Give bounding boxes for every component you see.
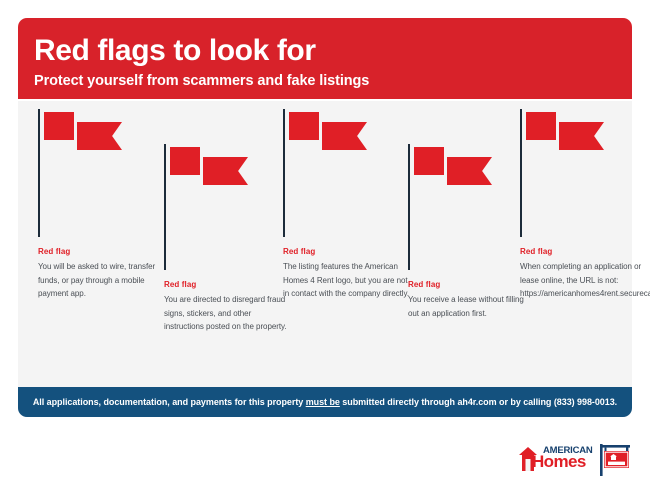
flag-square-icon xyxy=(526,112,556,140)
flag-graphic-1 xyxy=(38,109,148,237)
footer-text-before: All applications, documentation, and pay… xyxy=(33,397,306,407)
page-subtitle: Protect yourself from scammers and fake … xyxy=(34,71,632,91)
red-flag-text: When completing an application or lease … xyxy=(520,260,648,301)
infographic-poster: Red flags to look for Protect yourself f… xyxy=(0,0,650,488)
red-flag-label: Red flag xyxy=(520,247,648,256)
flag-graphic-3 xyxy=(283,109,393,237)
flag-square-icon xyxy=(289,112,319,140)
flag-caption-2: Red flag You are directed to disregard f… xyxy=(164,280,292,334)
header-banner: Red flags to look for Protect yourself f… xyxy=(18,18,632,99)
flag-item-2: Red flag You are directed to disregard f… xyxy=(164,144,292,270)
for-rent-sign-icon xyxy=(598,444,632,476)
page-title: Red flags to look for xyxy=(34,34,632,68)
flag-pole-icon xyxy=(164,144,166,270)
flag-pole-icon xyxy=(38,109,40,237)
logo-rent-sign xyxy=(598,444,632,476)
red-flag-text: You will be asked to wire, transfer fund… xyxy=(38,260,166,301)
red-flag-label: Red flag xyxy=(164,280,292,289)
flag-caption-3: Red flag The listing features the Americ… xyxy=(283,247,411,301)
flag-banner-icon xyxy=(203,157,248,185)
flag-banner-icon xyxy=(77,122,122,150)
flags-content-card: Red flag You will be asked to wire, tran… xyxy=(18,99,632,387)
footer-text-emphasis: must be xyxy=(306,397,340,407)
flag-square-icon xyxy=(44,112,74,140)
flag-pole-icon xyxy=(520,109,522,237)
flag-pole-icon xyxy=(408,144,410,270)
flag-banner-icon xyxy=(559,122,604,150)
flag-item-4: Red flag You receive a lease without fil… xyxy=(408,144,536,270)
red-flag-label: Red flag xyxy=(283,247,411,256)
flag-square-icon xyxy=(170,147,200,175)
flag-square-icon xyxy=(414,147,444,175)
footer-notice-text: All applications, documentation, and pay… xyxy=(33,397,617,407)
red-flag-label: Red flag xyxy=(408,280,536,289)
logo-homes-text: Homes xyxy=(532,453,586,471)
flag-item-1: Red flag You will be asked to wire, tran… xyxy=(38,109,166,237)
flag-caption-4: Red flag You receive a lease without fil… xyxy=(408,280,536,320)
flag-graphic-5 xyxy=(520,109,630,237)
flag-item-3: Red flag The listing features the Americ… xyxy=(283,109,411,237)
flag-graphic-4 xyxy=(408,144,518,270)
red-flag-text: The listing features the American Homes … xyxy=(283,260,411,301)
flag-caption-5: Red flag When completing an application … xyxy=(520,247,648,301)
red-flag-text: You are directed to disregard fraud sign… xyxy=(164,293,292,334)
flag-item-5: Red flag When completing an application … xyxy=(520,109,648,237)
footer-text-after: submitted directly through ah4r.com or b… xyxy=(340,397,617,407)
red-flag-text: You receive a lease without filling out … xyxy=(408,293,536,320)
flag-banner-icon xyxy=(447,157,492,185)
company-logo: AMERICAN Homes xyxy=(519,440,632,476)
flag-pole-icon xyxy=(283,109,285,237)
flag-graphic-2 xyxy=(164,144,274,270)
logo-wordmark: AMERICAN Homes xyxy=(519,442,595,476)
flag-caption-1: Red flag You will be asked to wire, tran… xyxy=(38,247,166,301)
flag-banner-icon xyxy=(322,122,367,150)
footer-notice-bar: All applications, documentation, and pay… xyxy=(18,387,632,417)
red-flag-label: Red flag xyxy=(38,247,166,256)
